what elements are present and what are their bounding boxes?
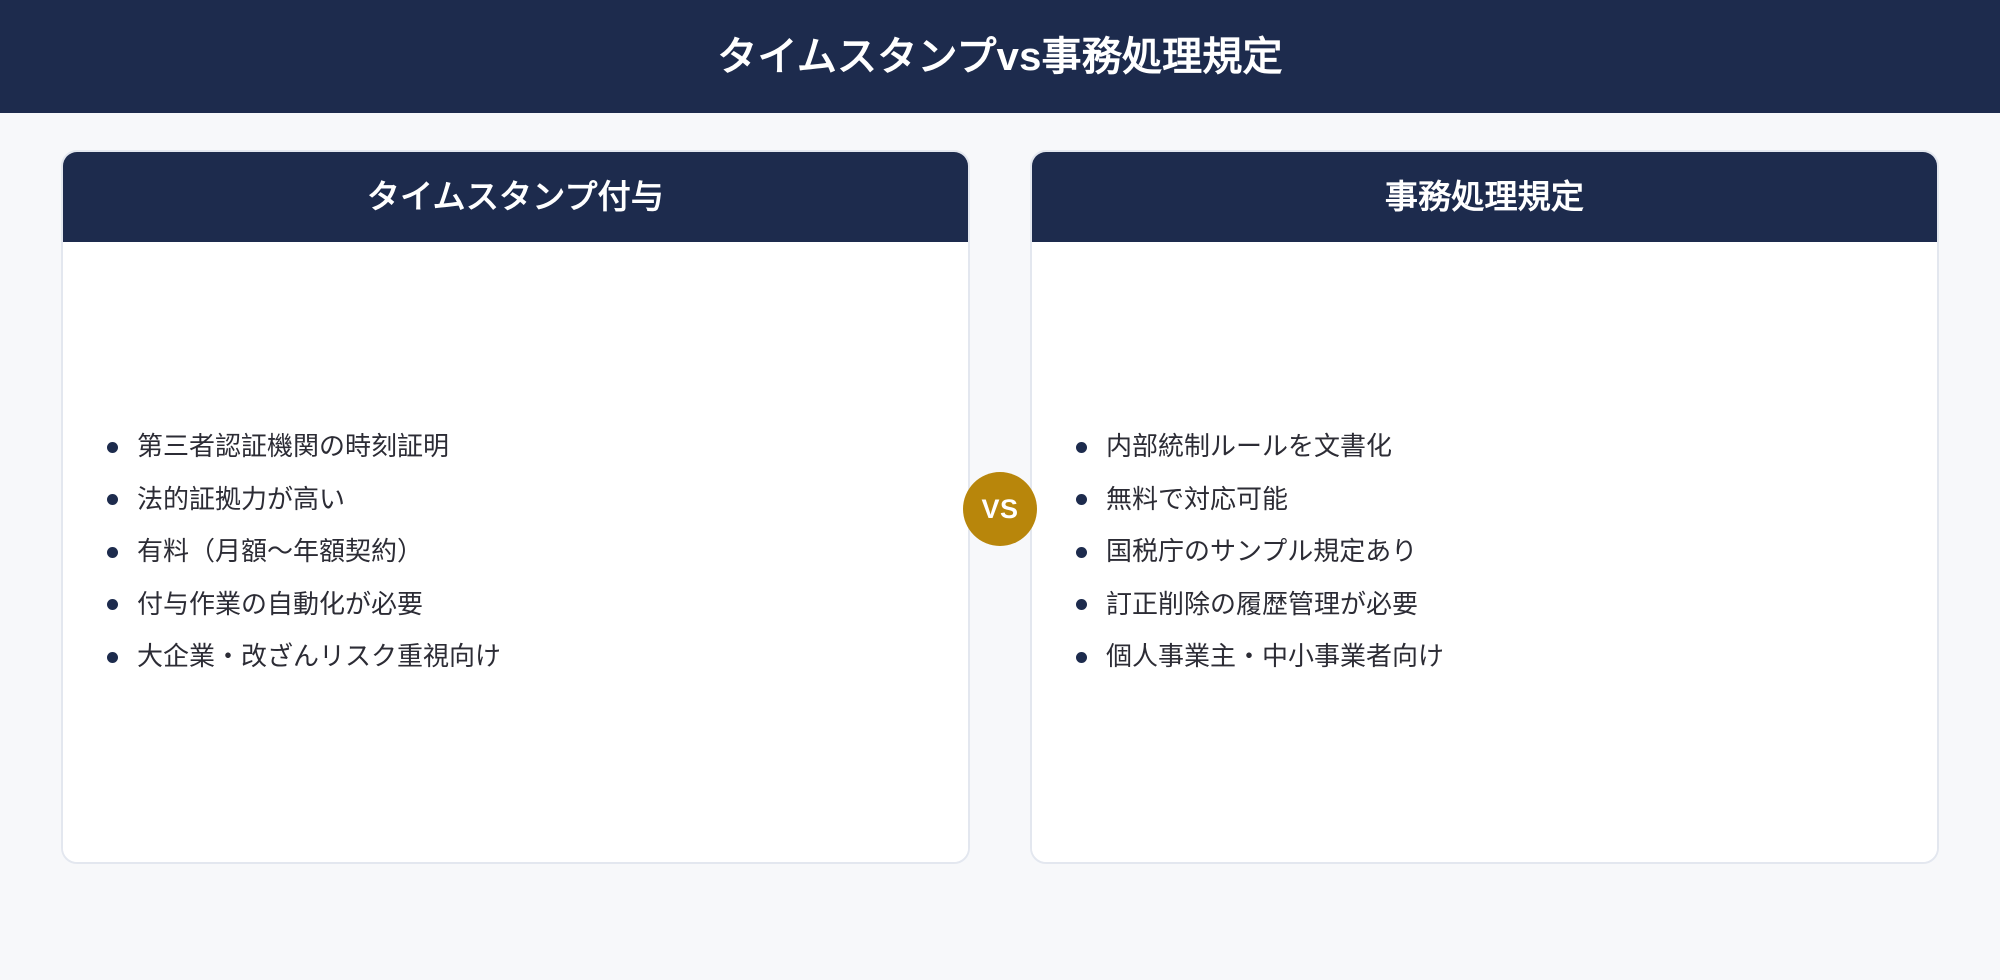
list-item-label: 国税庁のサンプル規定あり [1106, 534, 1417, 569]
list-item: 付与作業の自動化が必要 [107, 578, 924, 631]
bullet-icon [1076, 442, 1087, 453]
card-left-header: タイムスタンプ付与 [63, 152, 968, 242]
card-right-title: 事務処理規定 [1385, 177, 1584, 217]
list-item: 無料で対応可能 [1076, 473, 1893, 526]
list-item-label: 無料で対応可能 [1106, 482, 1288, 517]
page-title: タイムスタンプvs事務処理規定 [717, 33, 1283, 81]
list-item-label: 有料（月額〜年額契約） [137, 534, 423, 569]
bullet-icon [107, 599, 118, 610]
list-item: 国税庁のサンプル規定あり [1076, 526, 1893, 579]
comparison-infographic: タイムスタンプvs事務処理規定 タイムスタンプ付与 第三者認証機関の時刻証明 法… [0, 0, 2000, 980]
card-left-body: 第三者認証機関の時刻証明 法的証拠力が高い 有料（月額〜年額契約） 付与作業の自… [63, 242, 968, 862]
list-item-label: 大企業・改ざんリスク重視向け [137, 639, 501, 674]
list-item: 大企業・改ざんリスク重視向け [107, 631, 924, 684]
bullet-icon [107, 442, 118, 453]
bullet-icon [1076, 494, 1087, 505]
list-item: 法的証拠力が高い [107, 473, 924, 526]
vs-divider-label: VS [981, 496, 1018, 523]
bullet-icon [107, 494, 118, 505]
list-item-label: 第三者認証機関の時刻証明 [137, 429, 449, 464]
comparison-card-right: 事務処理規定 内部統制ルールを文書化 無料で対応可能 国税庁のサンプル規定あり [1030, 150, 1939, 864]
card-left-title: タイムスタンプ付与 [367, 177, 664, 217]
list-item: 第三者認証機関の時刻証明 [107, 421, 924, 474]
page-header-bar: タイムスタンプvs事務処理規定 [0, 0, 2000, 113]
list-item-label: 付与作業の自動化が必要 [137, 587, 423, 622]
list-item-label: 個人事業主・中小事業者向け [1106, 639, 1444, 674]
list-item-label: 法的証拠力が高い [137, 482, 345, 517]
comparison-area: タイムスタンプ付与 第三者認証機関の時刻証明 法的証拠力が高い 有料（月額〜年額… [0, 113, 2000, 980]
bullet-icon [1076, 652, 1087, 663]
bullet-icon [1076, 599, 1087, 610]
comparison-card-left: タイムスタンプ付与 第三者認証機関の時刻証明 法的証拠力が高い 有料（月額〜年額… [61, 150, 970, 864]
list-item-label: 内部統制ルールを文書化 [1106, 429, 1392, 464]
card-right-feature-list: 内部統制ルールを文書化 無料で対応可能 国税庁のサンプル規定あり 訂正削除の履歴… [1076, 421, 1893, 684]
card-right-header: 事務処理規定 [1032, 152, 1937, 242]
vs-divider-badge: VS [963, 472, 1037, 546]
bullet-icon [107, 652, 118, 663]
list-item: 訂正削除の履歴管理が必要 [1076, 578, 1893, 631]
card-right-body: 内部統制ルールを文書化 無料で対応可能 国税庁のサンプル規定あり 訂正削除の履歴… [1032, 242, 1937, 862]
list-item-label: 訂正削除の履歴管理が必要 [1106, 587, 1418, 622]
card-left-feature-list: 第三者認証機関の時刻証明 法的証拠力が高い 有料（月額〜年額契約） 付与作業の自… [107, 421, 924, 684]
list-item: 内部統制ルールを文書化 [1076, 421, 1893, 474]
bullet-icon [1076, 547, 1087, 558]
bullet-icon [107, 547, 118, 558]
list-item: 有料（月額〜年額契約） [107, 526, 924, 579]
list-item: 個人事業主・中小事業者向け [1076, 631, 1893, 684]
